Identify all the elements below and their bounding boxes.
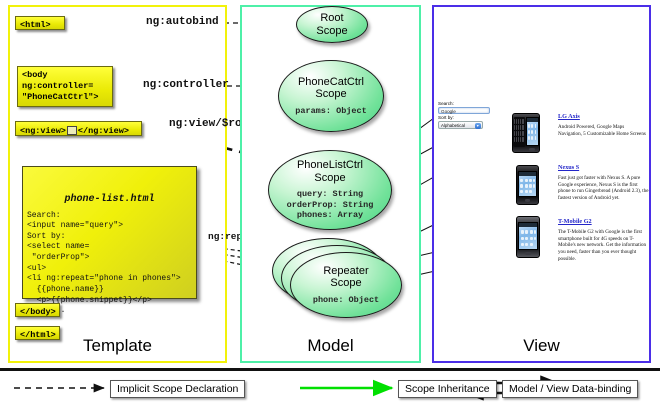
scope-phonecatctrl[interactable]: PhoneCatCtrl Scope params: Object bbox=[278, 60, 384, 132]
ngview-tag-box: <ng:view></ng:view> bbox=[15, 121, 142, 136]
phone-snippet-1: Fast just got faster with Nexus S. A pur… bbox=[558, 175, 650, 202]
legend: Implicit Scope Declaration Scope Inherit… bbox=[0, 374, 660, 405]
body-tag-line-1: <body bbox=[22, 70, 108, 81]
body-tag-line-2: ng:controller= bbox=[22, 81, 108, 92]
phone-list-file-name: phone-list.html bbox=[27, 193, 192, 206]
chevron-down-icon: ▾ bbox=[475, 123, 482, 129]
view-controls: Search: Google Sort by: Alphabetical ▾ bbox=[438, 101, 490, 129]
ngview-open-label: <ng:view> bbox=[20, 126, 66, 136]
edge-label-autobind: ng:autobind bbox=[146, 16, 219, 28]
phone-snippet-2: The T-Mobile G2 with Google is the first… bbox=[558, 229, 650, 263]
scope-phonecatctrl-props: params: Object bbox=[295, 106, 366, 117]
html-tag-box: <html> bbox=[15, 16, 65, 30]
legend-item-implicit: Implicit Scope Declaration bbox=[110, 380, 245, 398]
html-tag-label: <html> bbox=[16, 17, 64, 34]
html-close-box: </html> bbox=[15, 326, 60, 340]
scope-repeater-props: phone: Object bbox=[313, 295, 379, 306]
legend-divider bbox=[0, 368, 660, 371]
panel-view-title: View bbox=[434, 336, 649, 356]
body-tag-line-3: "PhoneCatCtrl"> bbox=[22, 92, 108, 103]
scope-phonelistctrl-props: query: String orderProp: String phones: … bbox=[287, 189, 374, 221]
ngview-close-label: </ng:view> bbox=[78, 126, 129, 136]
html-close-label: </html> bbox=[16, 327, 59, 344]
phone-name-1[interactable]: Nexus S bbox=[558, 164, 579, 171]
legend-item-inheritance: Scope Inheritance bbox=[398, 380, 497, 398]
scope-repeater-line1: Repeater bbox=[323, 265, 368, 277]
panel-model-title: Model bbox=[242, 336, 419, 356]
body-close-box: </body> bbox=[15, 303, 60, 317]
scope-phonecatctrl-line1: PhoneCatCtrl bbox=[298, 76, 364, 88]
scope-phonecatctrl-line2: Scope bbox=[298, 88, 364, 100]
scope-phonelistctrl-line1: PhoneListCtrl bbox=[297, 159, 363, 171]
phone-thumbnail-2 bbox=[516, 216, 540, 258]
edge-label-controller: ng:controller bbox=[143, 79, 229, 91]
phone-list-html-note: phone-list.htmlSearch: <input name="quer… bbox=[22, 166, 197, 299]
legend-item-databinding: Model / View Data-binding bbox=[502, 380, 638, 398]
phone-thumbnail-0 bbox=[512, 113, 540, 153]
phone-name-2[interactable]: T-Mobile G2 bbox=[558, 218, 592, 225]
search-input[interactable]: Google bbox=[438, 107, 490, 114]
scope-phonelistctrl[interactable]: PhoneListCtrl Scope query: String orderP… bbox=[268, 150, 392, 230]
scope-repeater-line2: Scope bbox=[323, 277, 368, 289]
body-close-label: </body> bbox=[16, 304, 59, 321]
sort-select-value: Alphabetical bbox=[441, 123, 465, 128]
scope-root-line2: Scope bbox=[316, 25, 347, 37]
scope-root[interactable]: Root Scope bbox=[296, 6, 368, 43]
placeholder-slot-icon bbox=[67, 126, 77, 135]
scope-repeater[interactable]: Repeater Scope phone: Object bbox=[290, 252, 402, 318]
phone-list-code: Search: <input name="query"> Sort by: <s… bbox=[27, 211, 181, 316]
phone-thumbnail-1 bbox=[516, 165, 539, 205]
diagram-canvas: Template <html> <body ng:controller= "Ph… bbox=[0, 0, 660, 405]
sort-select[interactable]: Alphabetical ▾ bbox=[438, 121, 483, 129]
phone-name-0[interactable]: LG Axis bbox=[558, 113, 580, 120]
scope-root-line1: Root bbox=[316, 12, 347, 24]
body-tag-box: <body ng:controller= "PhoneCatCtrl"> bbox=[17, 66, 113, 107]
scope-phonelistctrl-line2: Scope bbox=[297, 172, 363, 184]
phone-snippet-0: Android Powered, Google Maps Navigation,… bbox=[558, 124, 648, 137]
